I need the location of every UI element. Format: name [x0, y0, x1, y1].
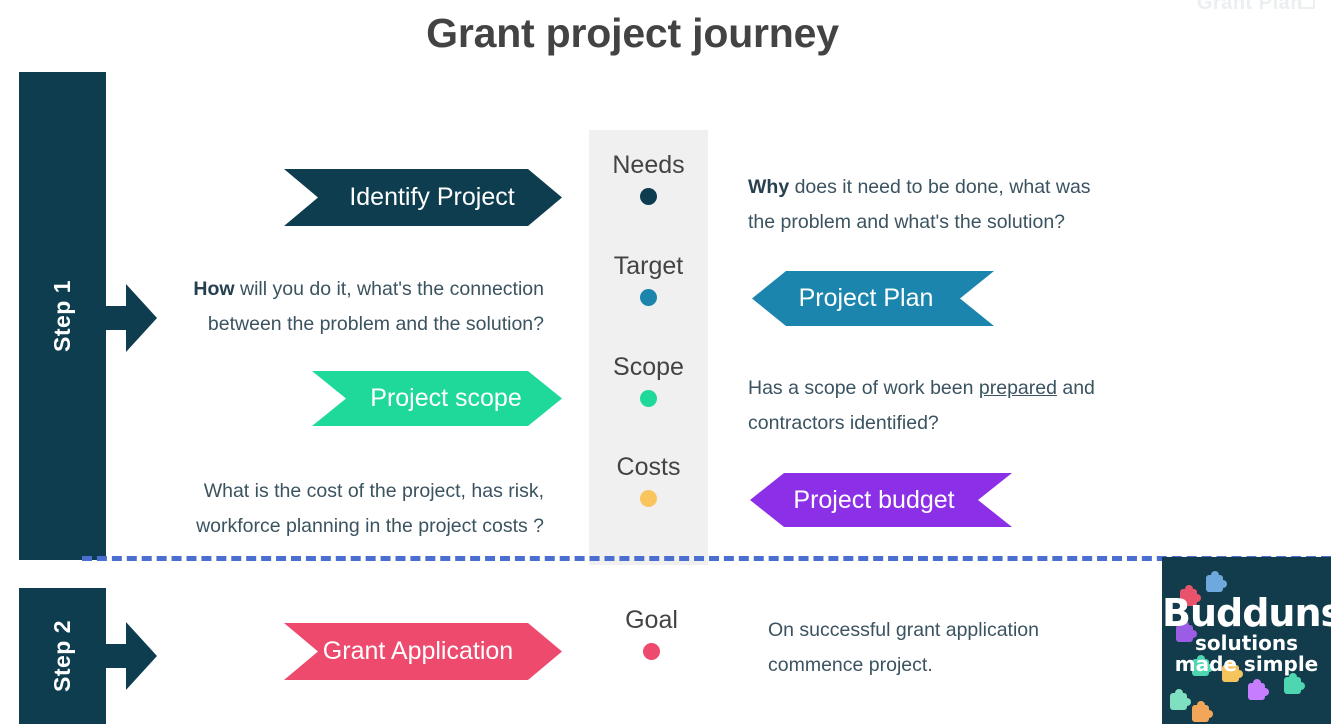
node-needs-label: Needs: [589, 152, 708, 180]
step-1-label: Step 1: [19, 72, 106, 560]
banner-grant-application-label: Grant Application: [323, 637, 513, 666]
prepared-link[interactable]: prepared: [979, 377, 1057, 399]
puzzle-piece-icon: [1170, 693, 1187, 710]
step-1-block: Step 1: [19, 72, 106, 560]
node-scope-dot-icon: [640, 390, 657, 407]
paragraph-why-lead: Why: [748, 176, 789, 198]
puzzle-piece-icon: [1206, 575, 1223, 592]
banner-project-budget-label: Project budget: [793, 486, 954, 515]
paragraph-prepared: Has a scope of work been prepared and co…: [748, 371, 1108, 441]
banner-project-scope-label: Project scope: [370, 384, 521, 413]
node-needs-dot-icon: [640, 188, 657, 205]
step-2-block: Step 2: [19, 588, 106, 724]
banner-project-scope[interactable]: Project scope: [312, 371, 562, 426]
logo-budduns: Budduns solutions made simple: [1162, 557, 1331, 724]
banner-grant-application[interactable]: Grant Application: [284, 623, 562, 680]
node-costs-dot-icon: [640, 490, 657, 507]
paragraph-how-lead: How: [193, 278, 234, 300]
section-divider: [82, 556, 1331, 561]
node-costs[interactable]: Costs: [589, 454, 708, 507]
banner-identify-project[interactable]: Identify Project: [284, 169, 562, 226]
paragraph-how-rest: will you do it, what's the connection be…: [208, 278, 544, 335]
node-costs-label: Costs: [589, 454, 708, 482]
step-2-label: Step 2: [19, 588, 106, 724]
node-target-label: Target: [589, 253, 708, 281]
logo-tagline-line2: made simple: [1175, 652, 1319, 676]
node-scope[interactable]: Scope: [589, 354, 708, 407]
puzzle-piece-icon: [1192, 705, 1209, 722]
logo-tagline: solutions made simple: [1162, 633, 1331, 675]
node-goal[interactable]: Goal: [592, 607, 711, 660]
paragraph-prepared-before: Has a scope of work been: [748, 377, 979, 399]
banner-project-plan-label: Project Plan: [799, 284, 934, 313]
paragraph-why-rest: does it need to be done, what was the pr…: [748, 176, 1091, 233]
banner-project-plan[interactable]: Project Plan: [752, 271, 994, 326]
node-goal-dot-icon: [643, 643, 660, 660]
paragraph-how: How will you do it, what's the connectio…: [150, 272, 544, 342]
step-2-arrow-icon: [106, 622, 157, 690]
node-scope-label: Scope: [589, 354, 708, 382]
node-target-dot-icon: [640, 289, 657, 306]
banner-identify-project-label: Identify Project: [349, 183, 514, 212]
logo-wordmark: Budduns: [1162, 591, 1331, 635]
window-icon: [1298, 0, 1315, 9]
puzzle-piece-icon: [1284, 677, 1301, 694]
paragraph-cost: What is the cost of the project, has ris…: [148, 474, 544, 544]
banner-project-budget[interactable]: Project budget: [750, 473, 1012, 527]
node-needs[interactable]: Needs: [589, 152, 708, 205]
paragraph-goal: On successful grant application commence…: [768, 613, 1068, 683]
node-target[interactable]: Target: [589, 253, 708, 306]
node-goal-label: Goal: [592, 607, 711, 635]
puzzle-piece-icon: [1248, 683, 1265, 700]
page-title: Grant project journey: [0, 10, 1265, 57]
paragraph-why: Why does it need to be done, what was th…: [748, 170, 1100, 240]
